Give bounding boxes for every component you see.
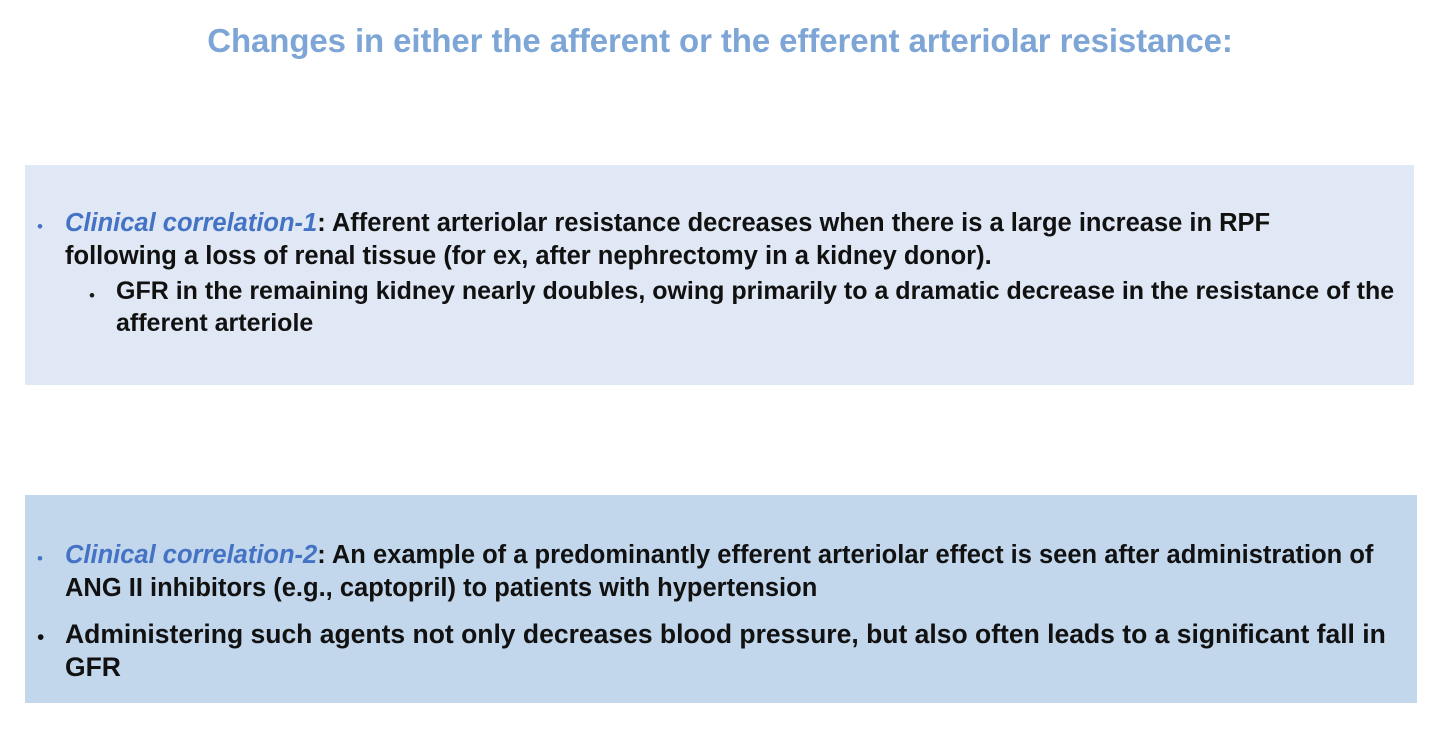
clinical-correlation-2-box: • Clinical correlation-2: An example of … xyxy=(25,495,1417,703)
list-item: • Administering such agents not only dec… xyxy=(37,618,1403,684)
list-item-text: Administering such agents not only decre… xyxy=(65,618,1403,684)
bullet-marker-icon: • xyxy=(89,276,116,304)
clinical-correlation-label: Clinical correlation-1 xyxy=(65,209,317,237)
list-item-text: Clinical correlation-1: Afferent arterio… xyxy=(65,207,1355,272)
list-item-text: GFR in the remaining kidney nearly doubl… xyxy=(116,276,1396,339)
list-item-text: Clinical correlation-2: An example of a … xyxy=(65,539,1403,604)
list-item: • Clinical correlation-2: An example of … xyxy=(37,539,1403,604)
clinical-correlation-label: Clinical correlation-2 xyxy=(65,541,317,569)
bullet-marker-icon: • xyxy=(37,618,65,648)
clinical-correlation-1-box: • Clinical correlation-1: Afferent arter… xyxy=(25,165,1414,385)
bullet-marker-icon: • xyxy=(37,539,65,567)
page-title: Changes in either the afferent or the ef… xyxy=(0,22,1440,60)
list-item: • Clinical correlation-1: Afferent arter… xyxy=(37,207,1396,272)
bullet-marker-icon: • xyxy=(37,207,65,235)
list-item: • GFR in the remaining kidney nearly dou… xyxy=(37,276,1396,339)
slide-root: { "slide": { "title": "Changes in either… xyxy=(0,0,1440,734)
